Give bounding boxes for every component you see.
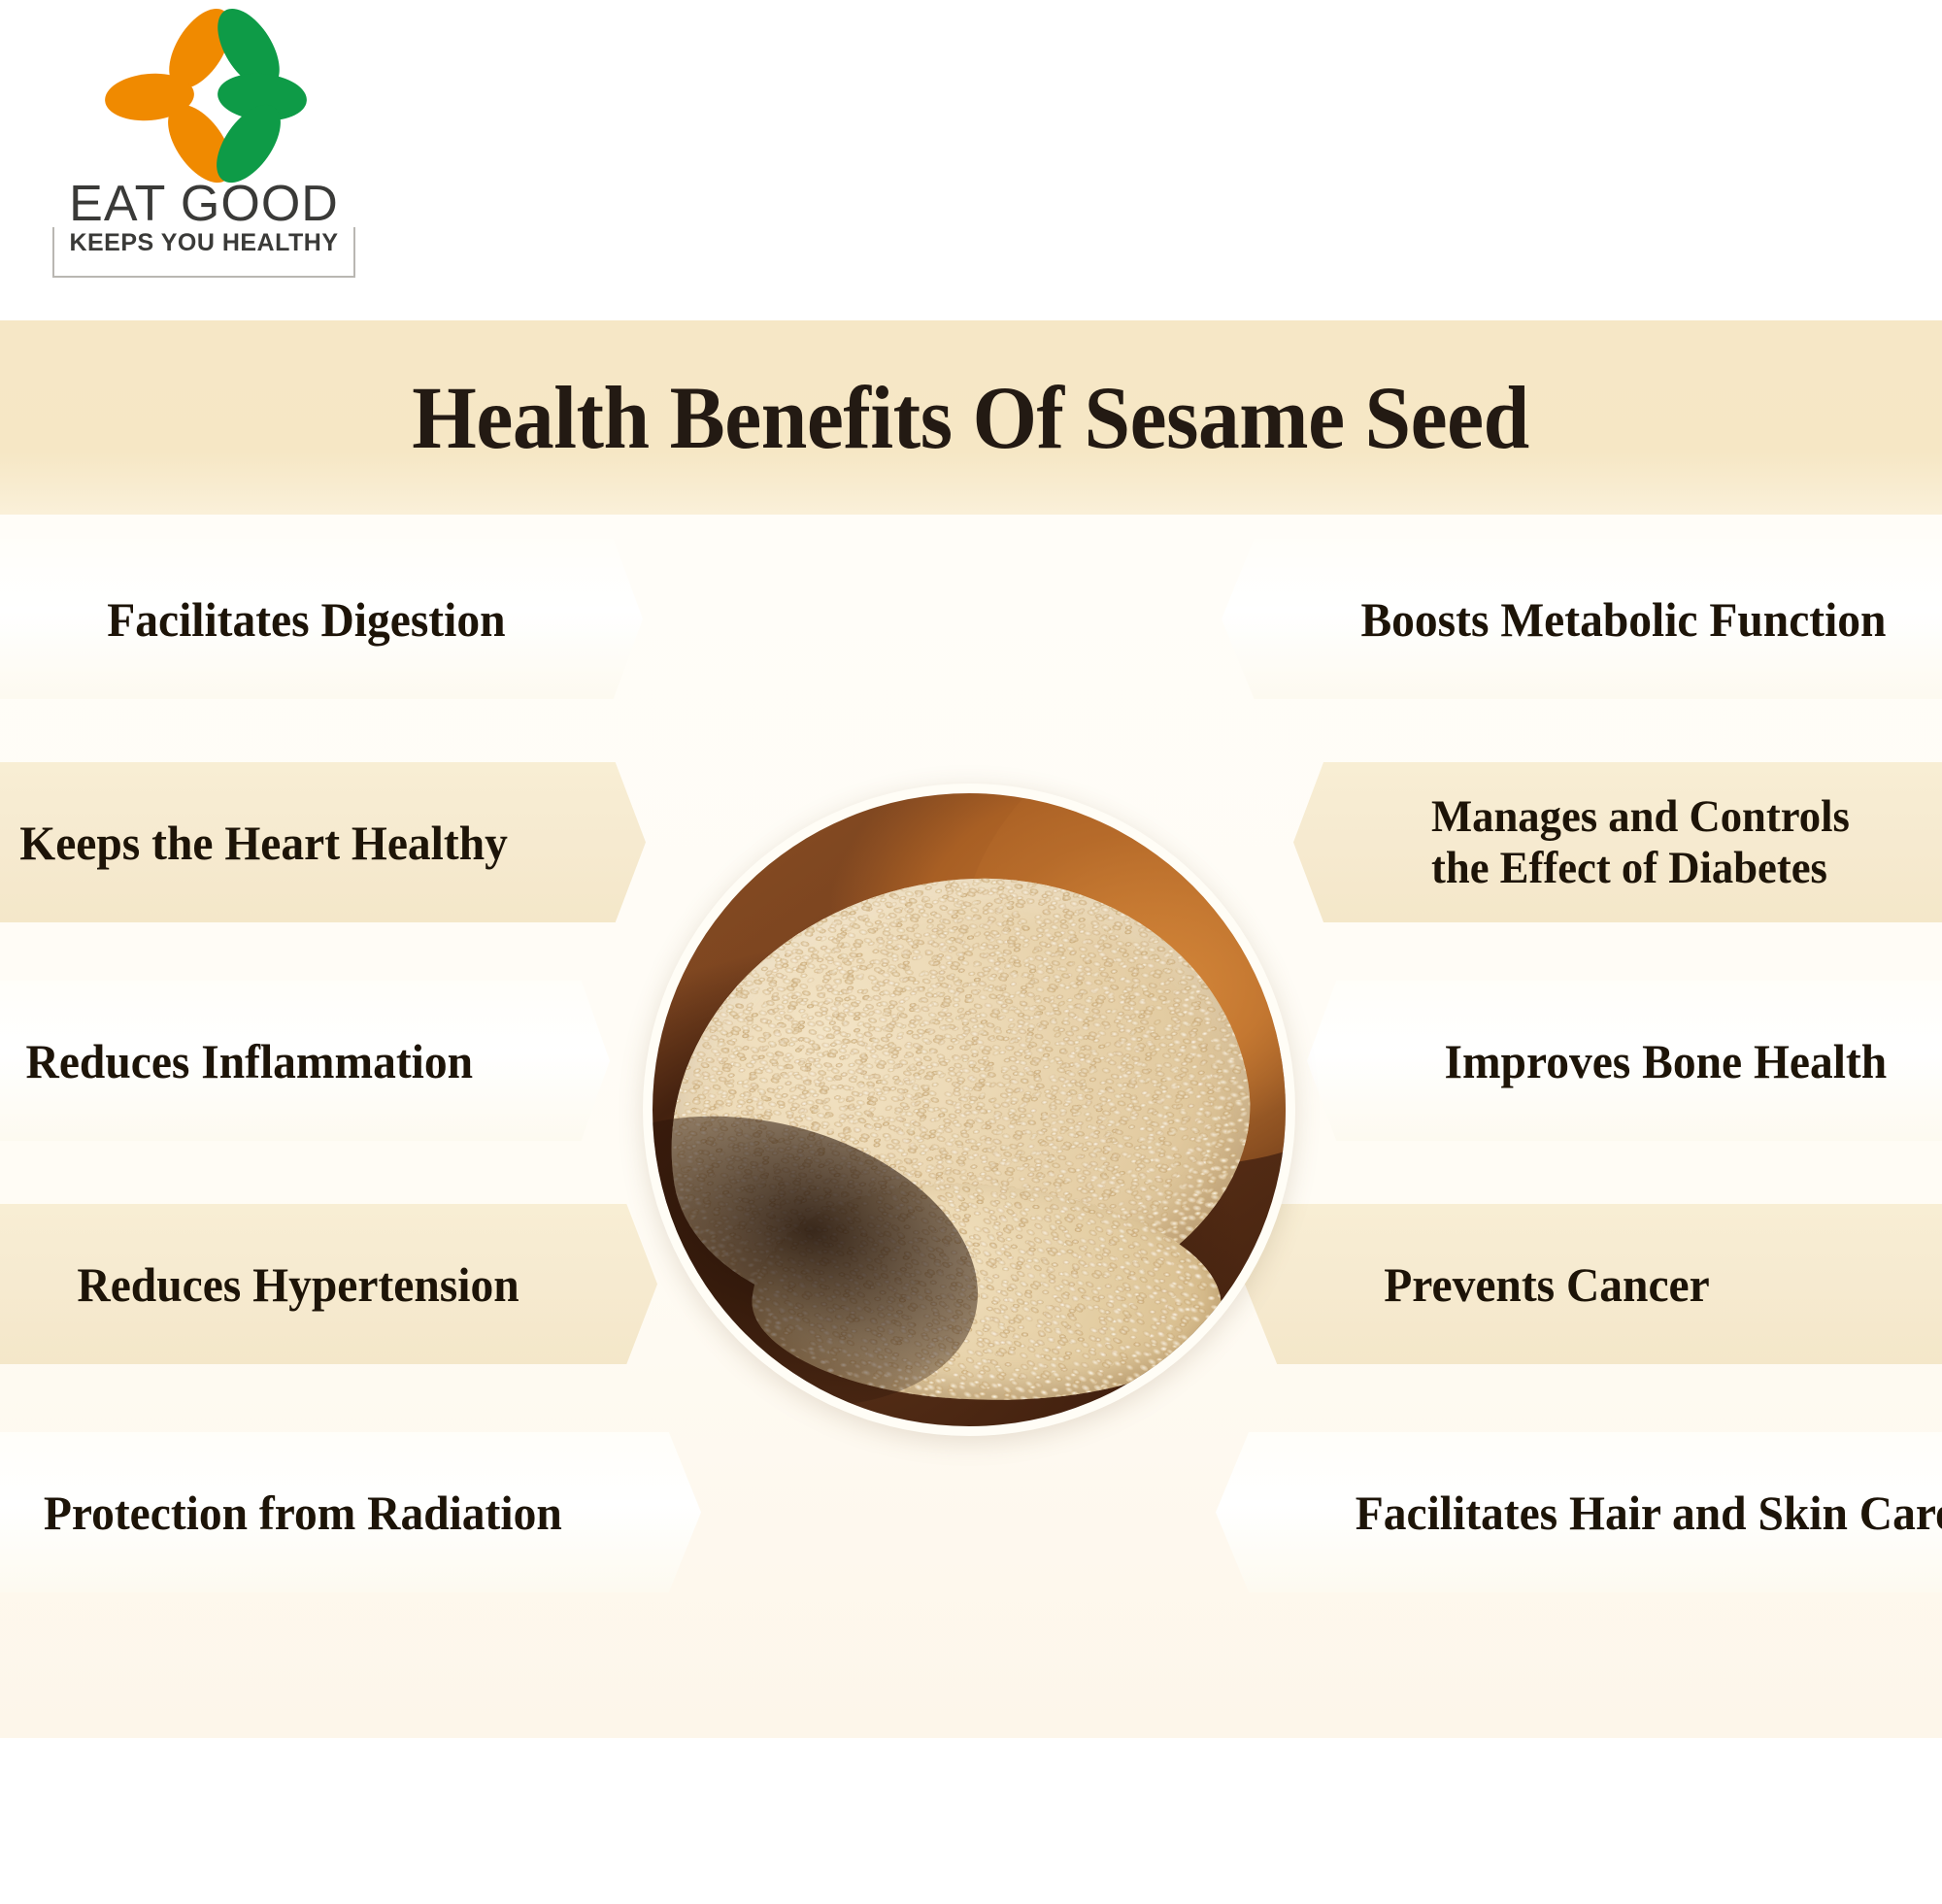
benefit-item-right-4[interactable]: Prevents Cancer (1245, 1204, 1942, 1364)
benefit-label: Facilitates Hair and Skin Care (1235, 1486, 1942, 1540)
brand-tagline: KEEPS YOU HEALTHY (39, 231, 369, 255)
benefit-item-left-3[interactable]: Reduces Inflammation (0, 981, 610, 1141)
bottom-strip (0, 1738, 1942, 1904)
benefit-item-left-5[interactable]: Protection from Radiation (0, 1432, 701, 1592)
benefit-label: Protection from Radiation (0, 1486, 682, 1540)
benefit-item-right-3[interactable]: Improves Bone Health (1307, 981, 1942, 1141)
benefit-label: Reduces Inflammation (0, 1034, 593, 1088)
page-title: Health Benefits Of Sesame Seed (413, 366, 1529, 469)
benefit-item-right-2[interactable]: Manages and Controls the Effect of Diabe… (1293, 762, 1942, 922)
benefit-item-right-1[interactable]: Boosts Metabolic Function (1222, 539, 1942, 699)
benefit-label: Reduces Hypertension (0, 1257, 639, 1312)
benefit-label-line1: Manages and Controls (1431, 791, 1942, 843)
sesame-photo-inner (653, 793, 1286, 1426)
benefit-label: Manages and Controls the Effect of Diabe… (1312, 791, 1942, 893)
logo-header: EAT GOOD KEEPS YOU HEALTHY (0, 0, 1942, 320)
brand-logo: EAT GOOD KEEPS YOU HEALTHY (39, 12, 369, 303)
benefits-area: Facilitates Digestion Keeps the Heart He… (0, 515, 1942, 1738)
sesame-seed-photo (643, 784, 1295, 1436)
benefit-label: Improves Bone Health (1324, 1034, 1942, 1088)
benefit-label: Boosts Metabolic Function (1241, 592, 1942, 647)
benefit-label: Prevents Cancer (1264, 1257, 1942, 1312)
benefit-item-left-1[interactable]: Facilitates Digestion (0, 539, 643, 699)
benefit-label: Facilitates Digestion (0, 592, 625, 647)
benefit-label: Keeps the Heart Healthy (0, 816, 627, 870)
sesame-seed-spill (746, 1166, 1231, 1421)
benefit-label-line2: the Effect of Diabetes (1431, 843, 1942, 894)
benefit-item-left-4[interactable]: Reduces Hypertension (0, 1204, 657, 1364)
six-petal-flower-icon (99, 19, 313, 175)
benefit-item-right-5[interactable]: Facilitates Hair and Skin Care (1216, 1432, 1942, 1592)
title-band: Health Benefits Of Sesame Seed (0, 320, 1942, 515)
brand-wordmark: EAT GOOD (39, 179, 369, 229)
benefit-item-left-2[interactable]: Keeps the Heart Healthy (0, 762, 646, 922)
infographic-page: EAT GOOD KEEPS YOU HEALTHY Health Benefi… (0, 0, 1942, 1904)
